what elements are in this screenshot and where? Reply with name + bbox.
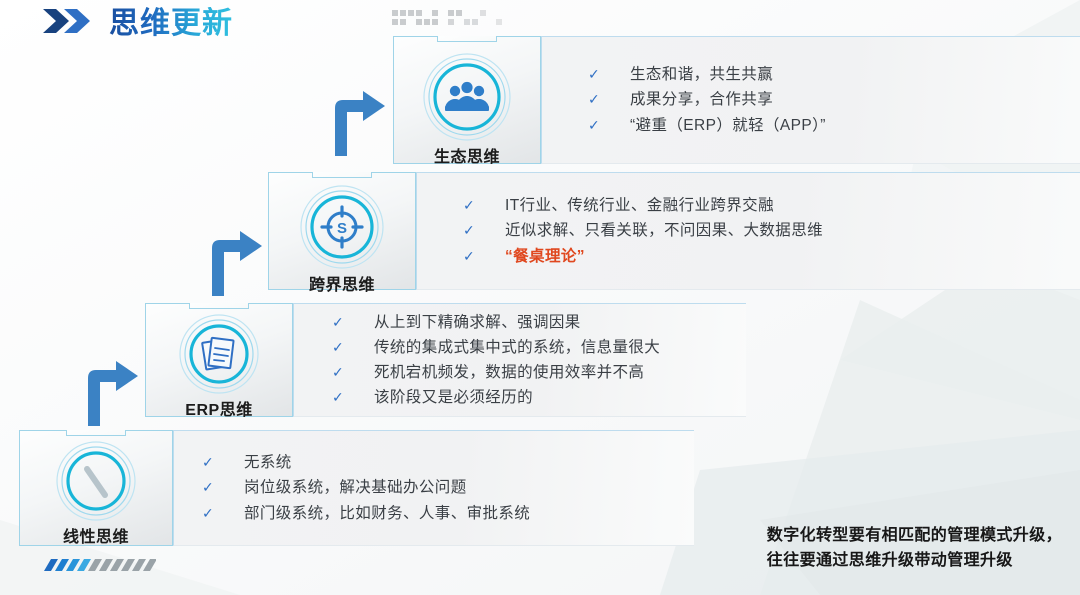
check-icon: ✓: [463, 194, 475, 217]
list-item-text: 部门级系统，比如财务、人事、审批系统: [244, 501, 530, 526]
stage-panel-erp: ✓ 从上到下精确求解、强调因果 ✓ 传统的集成式集中式的系统，信息量很大 ✓ 死…: [293, 303, 746, 417]
stage-row-linear: 线性思维 ✓ 无系统 ✓ 岗位级系统，解决基础办公问题 ✓ 部门级系统，比如财务…: [19, 430, 694, 546]
stage-label-linear: 线性思维: [63, 523, 129, 547]
list-item: ✓ 传统的集成式集中式的系统，信息量很大: [332, 335, 746, 360]
list-item: ✓ 部门级系统，比如财务、人事、审批系统: [202, 501, 694, 526]
check-icon: ✓: [463, 219, 475, 242]
list-item-text: 生态和谐，共生共赢: [630, 62, 773, 87]
list-item: ✓ 近似求解、只看关联，不问因果、大数据思维: [463, 218, 1080, 243]
list-item: ✓ 岗位级系统，解决基础办公问题: [202, 475, 694, 500]
list-item: ✓ 生态和谐，共生共赢: [588, 62, 1080, 87]
stage-card-erp[interactable]: ERP思维: [145, 303, 293, 417]
check-icon: ✓: [332, 386, 344, 409]
group-people-icon: [419, 51, 515, 143]
pixel-dots-decoration: [392, 10, 562, 33]
check-icon: ✓: [463, 245, 475, 268]
list-item-text: 无系统: [244, 450, 292, 475]
documents-icon: [171, 312, 267, 396]
diagonal-stripes-decoration: [38, 557, 156, 578]
list-item: ✓ “避重（ERP）就轻（APP）”: [588, 113, 1080, 138]
check-icon: ✓: [202, 502, 214, 525]
stage-panel-crossover: ✓ IT行业、传统行业、金融行业跨界交融 ✓ 近似求解、只看关联，不问因果、大数…: [416, 172, 1080, 290]
list-item: ✓ 该阶段又是必须经历的: [332, 385, 746, 410]
check-icon: ✓: [332, 361, 344, 384]
list-item: ✓ 无系统: [202, 450, 694, 475]
list-item-text: 传统的集成式集中式的系统，信息量很大: [374, 335, 660, 360]
list-item-text: 从上到下精确求解、强调因果: [374, 310, 581, 335]
check-icon: ✓: [588, 88, 600, 111]
slide-canvas: 思维更新: [0, 0, 1080, 595]
stage-row-crossover: S 跨界思维 ✓ IT行业、传统行业、金融行业跨界交融 ✓ 近似求解、只看关联，…: [268, 172, 1080, 290]
stage-card-linear[interactable]: 线性思维: [19, 430, 173, 546]
stage-row-erp: ERP思维 ✓ 从上到下精确求解、强调因果 ✓ 传统的集成式集中式的系统，信息量…: [145, 303, 746, 417]
conclusion-text: 数字化转型要有相匹配的管理模式升级， 往往要通过思维升级带动管理升级: [767, 524, 1062, 574]
check-icon: ✓: [332, 311, 344, 334]
diagonal-line-icon: [48, 439, 144, 523]
list-item: ✓ 从上到下精确求解、强调因果: [332, 310, 746, 335]
target-dollar-icon: S: [294, 183, 390, 271]
svg-text:S: S: [337, 220, 347, 237]
conclusion-line-1: 数字化转型要有相匹配的管理模式升级，: [767, 524, 1062, 549]
stage-card-crossover[interactable]: S 跨界思维: [268, 172, 416, 290]
list-item: ✓ IT行业、传统行业、金融行业跨界交融: [463, 193, 1080, 218]
list-item-text: 近似求解、只看关联，不问因果、大数据思维: [505, 218, 823, 243]
list-item: ✓ 死机宕机频发，数据的使用效率并不高: [332, 360, 746, 385]
stage-panel-ecology: ✓ 生态和谐，共生共赢 ✓ 成果分享，合作共享 ✓ “避重（ERP）就轻（APP…: [541, 36, 1080, 164]
stage-row-ecology: 生态思维 ✓ 生态和谐，共生共赢 ✓ 成果分享，合作共享 ✓ “避重（ERP）就…: [393, 36, 1080, 164]
list-item-text: 该阶段又是必须经历的: [374, 385, 533, 410]
stage-label-ecology: 生态思维: [434, 143, 500, 167]
check-icon: ✓: [202, 476, 214, 499]
double-chevron-right-icon: [42, 8, 96, 39]
list-item-text: “避重（ERP）就轻（APP）”: [630, 113, 826, 138]
check-icon: ✓: [588, 114, 600, 137]
list-item-text: IT行业、传统行业、金融行业跨界交融: [505, 193, 774, 218]
list-item-text: 岗位级系统，解决基础办公问题: [244, 475, 467, 500]
page-title: 思维更新: [109, 7, 233, 40]
arrow-crossover-to-ecology: [330, 88, 390, 163]
list-item: ✓ “餐桌理论”: [463, 244, 1080, 269]
stage-label-erp: ERP思维: [185, 396, 252, 420]
arrow-linear-to-erp: [83, 358, 143, 433]
stage-card-ecology[interactable]: 生态思维: [393, 36, 541, 164]
check-icon: ✓: [202, 451, 214, 474]
list-item: ✓ 成果分享，合作共享: [588, 87, 1080, 112]
check-icon: ✓: [332, 336, 344, 359]
stage-label-crossover: 跨界思维: [309, 271, 375, 295]
slide-title-row: 思维更新: [42, 7, 233, 40]
stage-panel-linear: ✓ 无系统 ✓ 岗位级系统，解决基础办公问题 ✓ 部门级系统，比如财务、人事、审…: [173, 430, 694, 546]
list-item-text: “餐桌理论”: [505, 244, 585, 269]
check-icon: ✓: [588, 63, 600, 86]
list-item-text: 成果分享，合作共享: [630, 87, 773, 112]
list-item-text: 死机宕机频发，数据的使用效率并不高: [374, 360, 644, 385]
conclusion-line-2: 往往要通过思维升级带动管理升级: [767, 549, 1062, 574]
arrow-erp-to-crossover: [207, 228, 267, 303]
